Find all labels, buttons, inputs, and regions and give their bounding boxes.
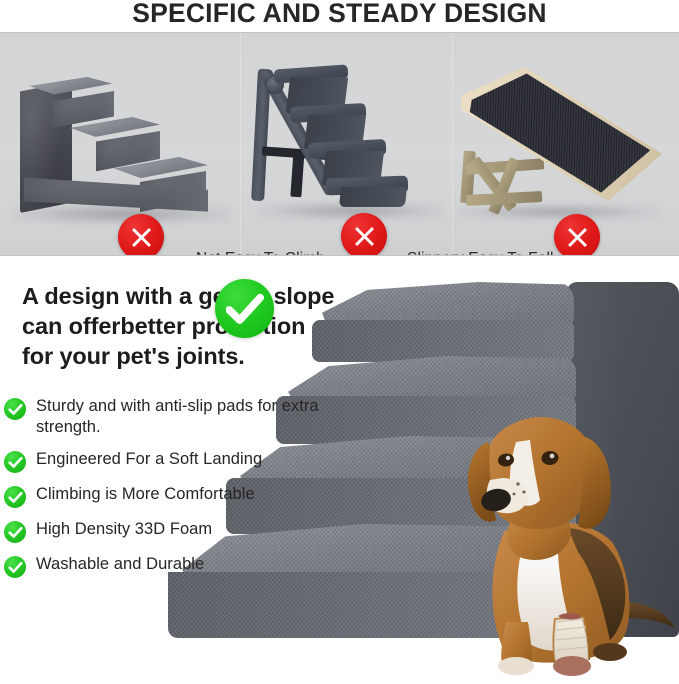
- comparison-panel: Not Easy To Climb: [0, 32, 679, 256]
- folding-stair-riser: [339, 187, 407, 207]
- x-mark-icon: [128, 224, 155, 251]
- check-badge-icon: [4, 451, 26, 473]
- eye-highlight: [506, 456, 510, 460]
- benefit-list: Sturdy and with anti-slip pads for extra…: [4, 396, 334, 589]
- ramp-support-strut: [466, 191, 542, 206]
- benefit-label: Climbing is More Comfortable: [36, 484, 255, 505]
- pet-dog-photo: [430, 406, 678, 679]
- check-mark-icon: [8, 403, 23, 416]
- check-mark-icon: [226, 292, 264, 326]
- dog-illustration: [430, 406, 678, 679]
- check-mark-icon: [8, 491, 23, 504]
- benefit-item: Engineered For a Soft Landing: [4, 449, 334, 473]
- comparison-item-plastic-folding-stair: [252, 53, 452, 233]
- folding-stair-brace: [290, 149, 304, 198]
- comparison-caption-2: Slippery Easy To Fall: [407, 250, 554, 256]
- x-mark-icon: [564, 224, 591, 251]
- muzzle-freckle: [513, 493, 516, 496]
- benefit-label: Sturdy and with anti-slip pads for extra…: [36, 396, 334, 438]
- benefit-label: High Density 33D Foam: [36, 519, 212, 540]
- check-badge-icon: [4, 521, 26, 543]
- bandaged-paw: [553, 656, 591, 676]
- check-mark-icon: [8, 561, 23, 574]
- muzzle-freckle: [516, 482, 519, 485]
- benefit-item: Sturdy and with anti-slip pads for extra…: [4, 396, 334, 438]
- product-infographic: SPECIFIC AND STEADY DESIGN: [0, 0, 679, 679]
- feature-heading-line-1: A design with a gentle slope: [22, 281, 362, 311]
- eye-highlight: [550, 454, 555, 459]
- check-mark-icon: [8, 456, 23, 469]
- check-badge-icon: [4, 398, 26, 420]
- check-mark-icon: [8, 526, 23, 539]
- page-title: SPECIFIC AND STEADY DESIGN: [0, 0, 679, 28]
- benefit-item: Washable and Durable: [4, 554, 334, 578]
- ramp-body: [448, 53, 672, 235]
- check-badge-icon: [4, 486, 26, 508]
- benefit-label: Washable and Durable: [36, 554, 204, 575]
- benefit-item: Climbing is More Comfortable: [4, 484, 334, 508]
- accept-badge-check: [215, 279, 274, 338]
- reject-badge-x: [554, 214, 600, 256]
- dog-hind-paw: [593, 643, 627, 661]
- reject-badge-x: [341, 213, 387, 256]
- dog-tail: [626, 602, 675, 628]
- x-mark-icon: [351, 223, 378, 250]
- feature-heading-line-3: for your pet's joints.: [22, 341, 362, 371]
- feature-heading: A design with a gentle slope can offerbe…: [22, 281, 362, 371]
- benefit-label: Engineered For a Soft Landing: [36, 449, 262, 470]
- comparison-item-gray-foam-stair: [8, 51, 238, 236]
- benefit-item: High Density 33D Foam: [4, 519, 334, 543]
- comparison-caption-1: Not Easy To Climb: [196, 250, 325, 256]
- reject-badge-x: [118, 214, 164, 256]
- feature-heading-line-2: can offerbetter protection: [22, 311, 362, 341]
- dog-paw: [498, 657, 534, 675]
- comparison-item-wooden-ramp: [448, 53, 672, 235]
- check-badge-icon: [4, 556, 26, 578]
- muzzle-freckle: [523, 491, 526, 494]
- panel-divider: [240, 33, 241, 255]
